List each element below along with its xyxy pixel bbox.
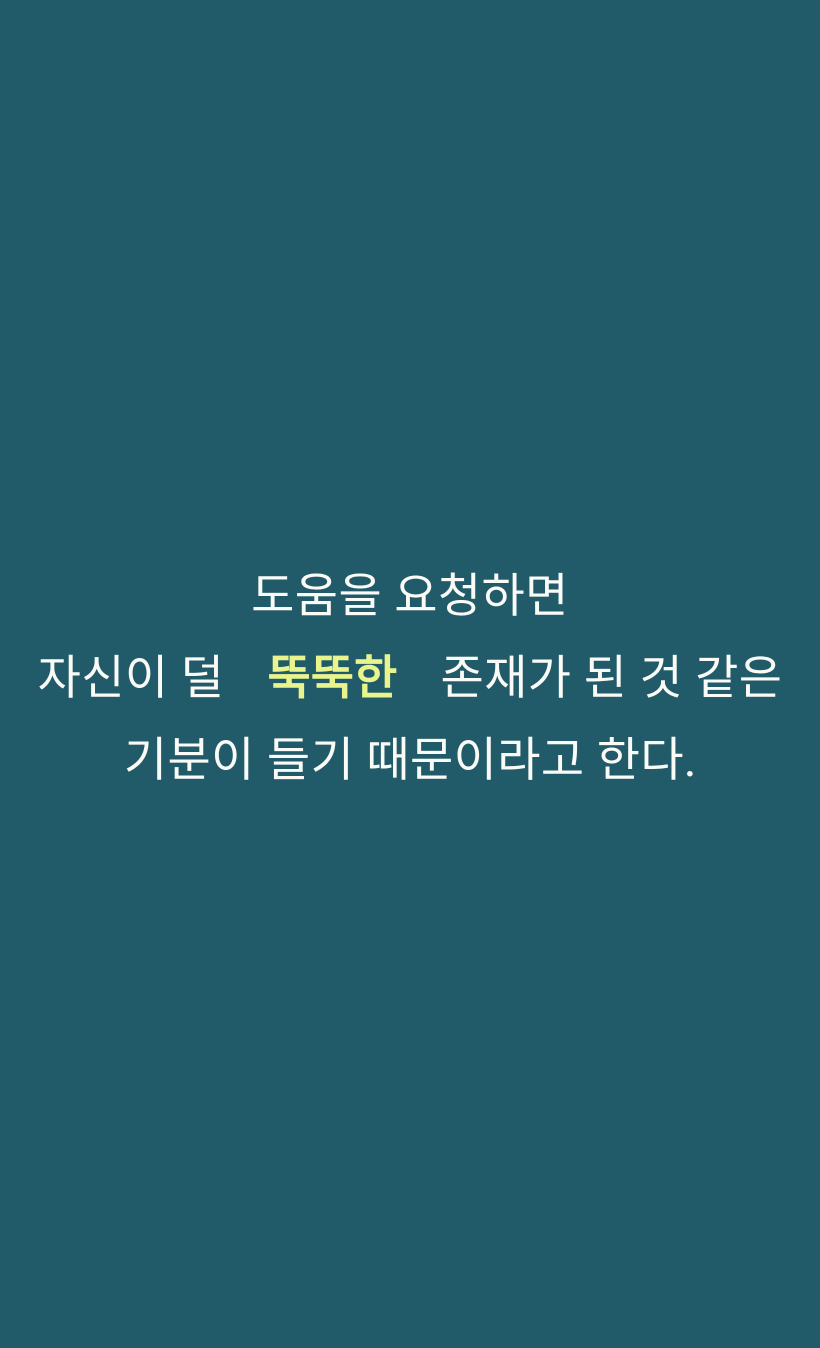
quote-card: 도움을 요청하면 자신이 덜ᅠ뚝뚝한ᅠ존재가 된 것 같은 기분이 들기 때문이… xyxy=(0,0,820,1348)
quote-line-1: 도움을 요청하면 xyxy=(24,556,796,638)
quote-emphasized-word: 뚝뚝한 xyxy=(268,653,398,705)
quote-line-2-prefix: 자신이 덜ᅠ xyxy=(38,653,268,705)
quote-text-block: 도움을 요청하면 자신이 덜ᅠ뚝뚝한ᅠ존재가 된 것 같은 기분이 들기 때문이… xyxy=(0,556,820,802)
quote-line-2: 자신이 덜ᅠ뚝뚝한ᅠ존재가 된 것 같은 xyxy=(24,638,796,720)
quote-line-3: 기분이 들기 때문이라고 한다. xyxy=(24,720,796,802)
quote-line-2-suffix: ᅠ존재가 된 것 같은 xyxy=(397,653,782,705)
